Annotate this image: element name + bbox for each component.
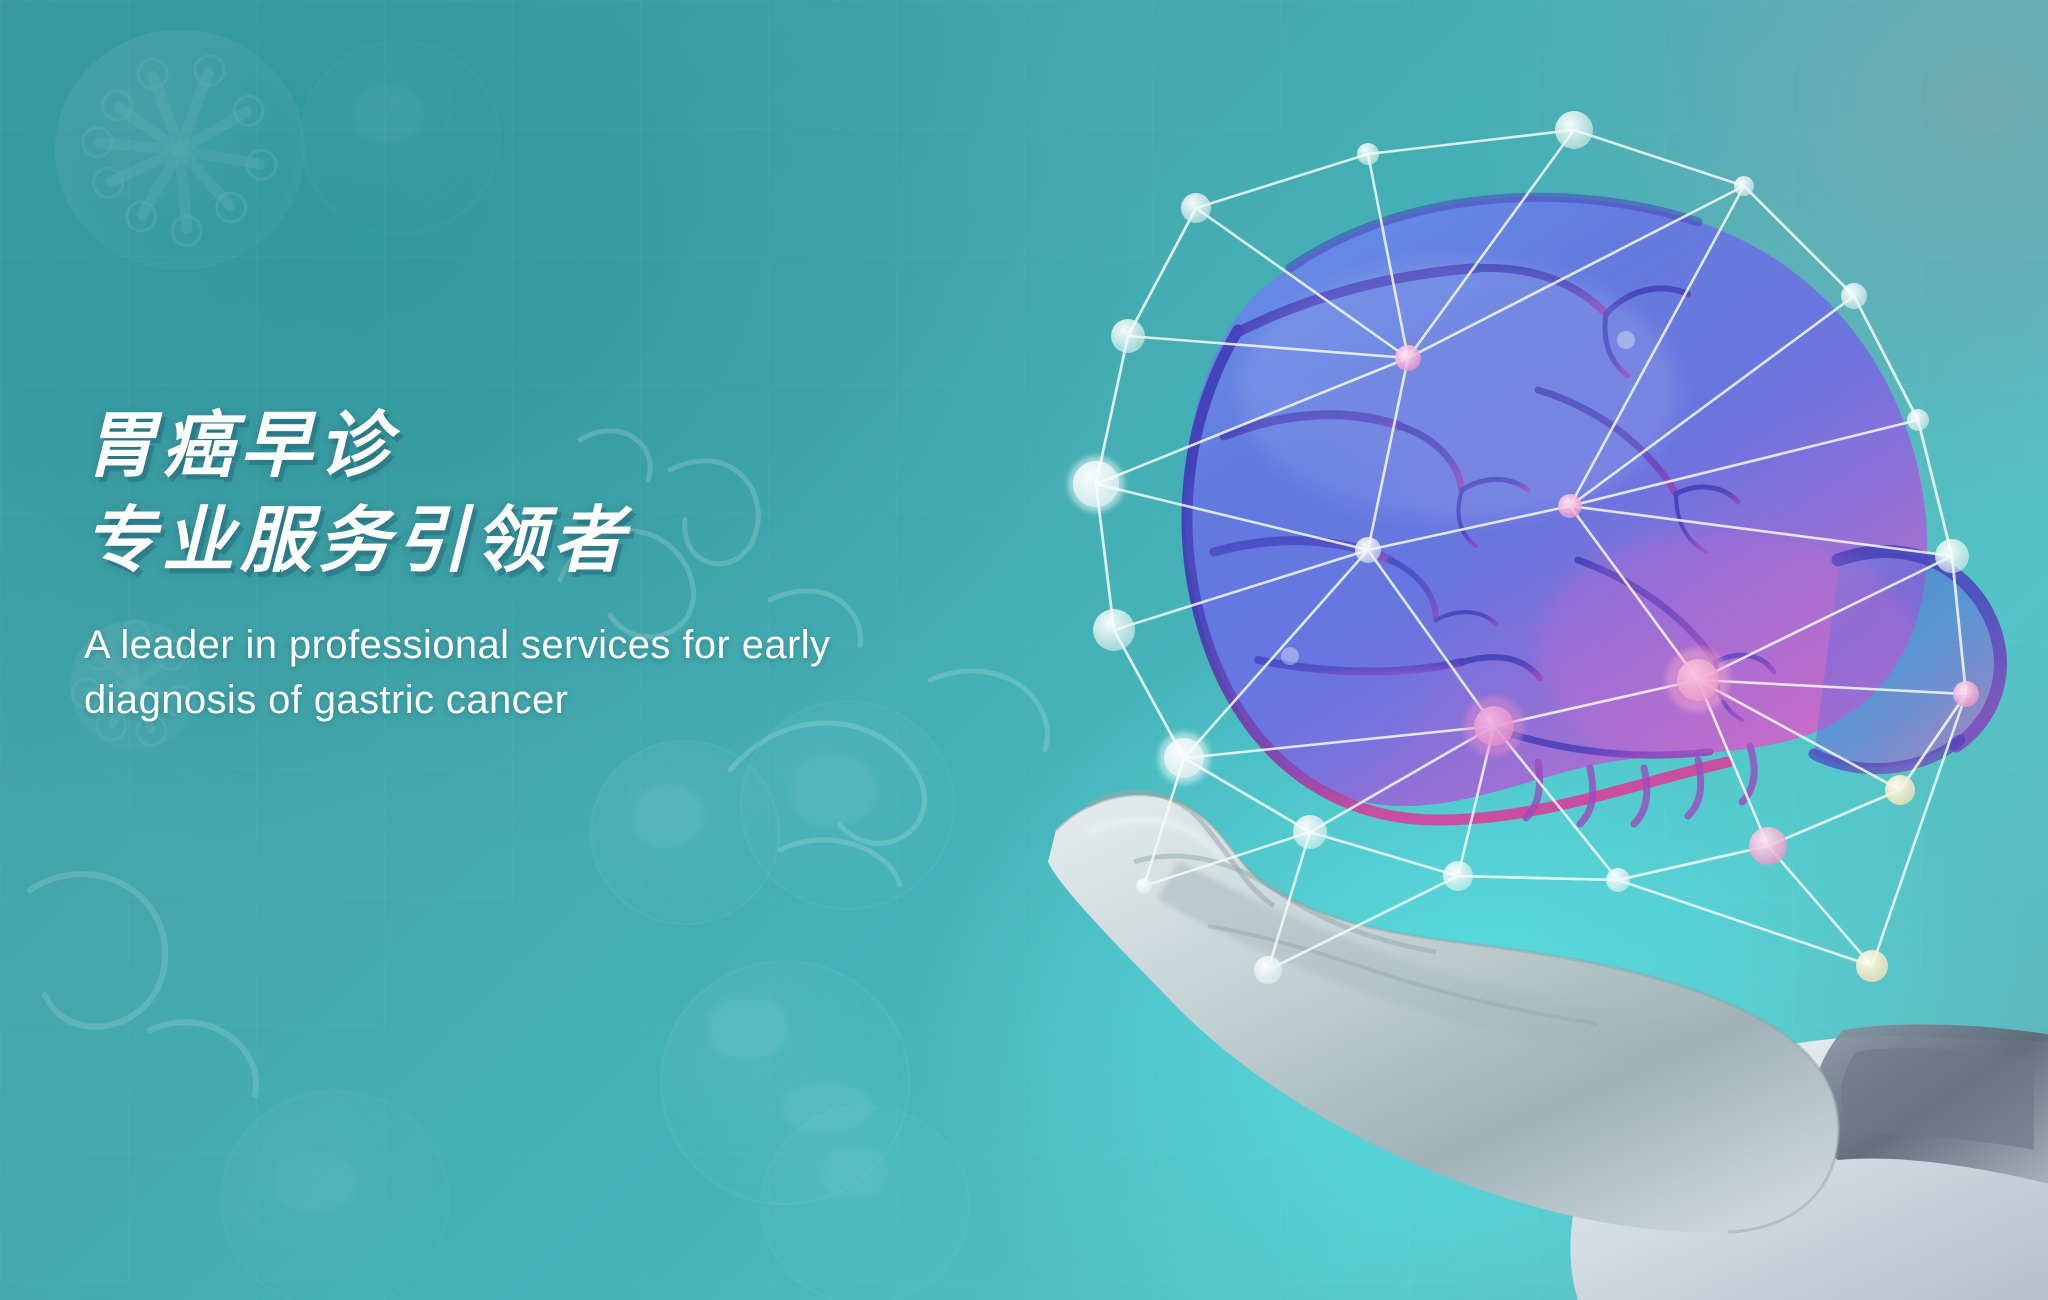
cell-cluster-icon <box>300 40 500 235</box>
subtitle-text: A leader in professional services for ea… <box>84 618 864 728</box>
cell-cluster-icon <box>220 1090 450 1300</box>
virus-particle-icon <box>0 0 400 360</box>
stomach-in-hand-artwork <box>938 90 2048 1300</box>
cell-cluster-icon <box>660 960 910 1205</box>
headline-line-2: 专业服务引领者 <box>84 499 984 584</box>
hero-copy: 胃癌早诊 专业服务引领者 A leader in professional se… <box>84 404 984 728</box>
headline-line-1: 胃癌早诊 <box>84 404 984 489</box>
cell-cluster-icon <box>740 700 955 910</box>
cell-cluster-icon <box>590 740 780 925</box>
bacteria-squiggle-icon <box>0 830 330 1130</box>
banner-hero: 胃癌早诊 专业服务引领者 A leader in professional se… <box>0 0 2048 1300</box>
